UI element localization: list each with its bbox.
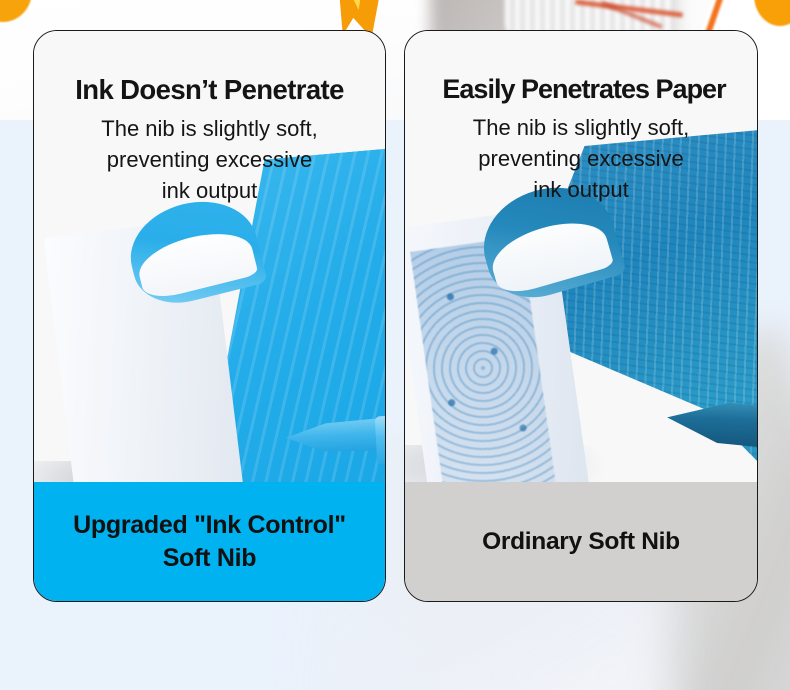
band-label: Ordinary Soft Nib — [482, 525, 680, 558]
comparison-card-ordinary: Easily Penetrates Paper The nib is sligh… — [404, 30, 758, 602]
card-band-ordinary: Ordinary Soft Nib — [405, 482, 757, 601]
band-label: Upgraded "Ink Control" Soft Nib — [73, 509, 346, 575]
comparison-infographic: Ink Doesn’t Penetrate The nib is slightl… — [0, 0, 790, 690]
card-photo-upgraded — [34, 31, 385, 484]
card-band-upgraded: Upgraded "Ink Control" Soft Nib — [34, 482, 385, 601]
comparison-card-upgraded: Ink Doesn’t Penetrate The nib is slightl… — [33, 30, 386, 602]
marker-barrel-icon — [375, 414, 385, 465]
card-photo-ordinary — [405, 31, 757, 484]
